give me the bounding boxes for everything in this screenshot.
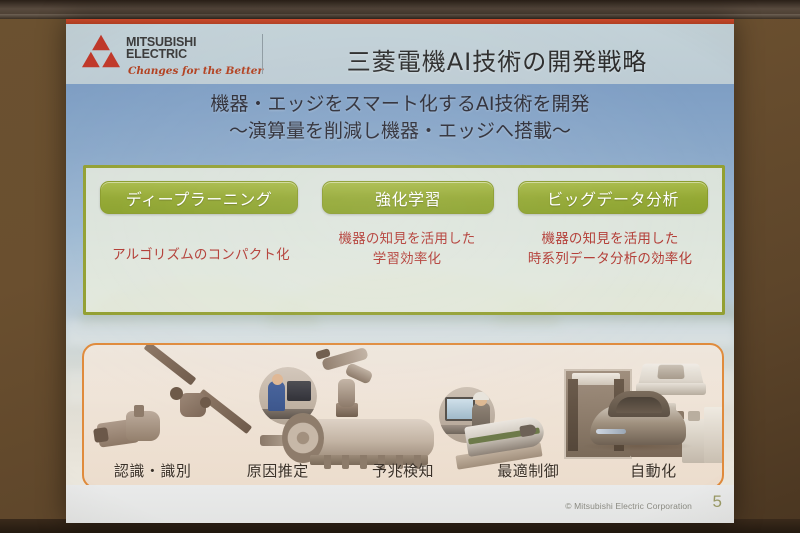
strategy-description-big-data-analysis: 機器の知見を活用した 時系列データ分析の効率化	[506, 230, 714, 269]
security-camera-image	[93, 427, 109, 443]
description-line-1: 機器の知見を活用した	[310, 230, 504, 250]
car-image	[596, 429, 626, 434]
strategy-description-deep-learning: アルゴリズムのコンパクト化	[94, 230, 308, 266]
three-diamonds-icon	[80, 34, 122, 68]
caption-optimal-control: 最適制御	[466, 460, 591, 481]
strategy-pill-deep-learning[interactable]: ディープラーニング	[100, 181, 298, 214]
slide-title: 三菱電機AI技術の開発戦略	[266, 31, 728, 87]
ceiling-air-conditioner-image	[657, 365, 684, 379]
logo-line-2: ELECTRIC	[126, 48, 263, 60]
caption-recognition-identification: 認識・識別	[90, 460, 215, 481]
satellite-image	[198, 389, 252, 434]
car-image	[616, 397, 662, 413]
strategy-description-row: アルゴリズムのコンパクト化 機器の知見を活用した 学習効率化 機器の知見を活用し…	[86, 230, 722, 269]
caption-sign-detection: 予兆検知	[340, 460, 465, 481]
caption-automation: 自動化	[591, 460, 716, 481]
home-appliances-image	[704, 407, 724, 463]
projection-room: MITSUBISHI ELECTRIC Changes for the Bett…	[0, 0, 800, 533]
subtitle-line-1: 機器・エッジをスマート化するAI技術を開発	[66, 91, 734, 118]
satellite-image	[200, 397, 211, 408]
satellite-image	[144, 343, 197, 386]
header-divider	[262, 34, 263, 74]
slide-top-accent-bar	[66, 19, 734, 24]
robot-arm-image	[338, 379, 355, 407]
ai-strategy-panel: ディープラーニング 強化学習 ビッグデータ分析 アルゴリズムのコンパクト化 機器…	[83, 165, 725, 315]
description-line-2: 学習効率化	[310, 250, 504, 270]
strategy-pill-reinforcement-learning[interactable]: 強化学習	[322, 181, 494, 214]
page-number: 5	[713, 492, 722, 512]
satellite-image	[170, 387, 183, 400]
slide-header: MITSUBISHI ELECTRIC Changes for the Bett…	[66, 24, 734, 84]
application-examples-panel: 認識・識別 原因推定 予兆検知 最適制御 自動化	[82, 343, 724, 489]
home-appliances-image	[688, 411, 700, 421]
projected-slide: MITSUBISHI ELECTRIC Changes for the Bett…	[66, 19, 734, 523]
slide-footer: © Mitsubishi Electric Corporation 5	[66, 485, 734, 523]
description-line-1: 機器の知見を活用した	[506, 230, 714, 250]
description-line-1: アルゴリズムのコンパクト化	[94, 246, 308, 266]
copyright-notice: © Mitsubishi Electric Corporation	[565, 501, 692, 511]
elevator-interior-image	[568, 379, 578, 451]
description-line-2: 時系列データ分析の効率化	[506, 250, 714, 270]
elevator-interior-image	[572, 373, 620, 385]
strategy-description-reinforcement-learning: 機器の知見を活用した 学習効率化	[310, 230, 504, 269]
security-camera-image	[134, 405, 144, 417]
caption-cause-estimation: 原因推定	[215, 460, 340, 481]
logo-wordmark: MITSUBISHI ELECTRIC Changes for the Bett…	[126, 36, 263, 76]
subtitle-line-2: ～演算量を削減し機器・エッジへ搭載～	[66, 118, 734, 145]
logo-tagline: Changes for the Better	[128, 66, 263, 76]
strategy-pill-row: ディープラーニング 強化学習 ビッグデータ分析	[86, 181, 722, 214]
application-caption-row: 認識・識別 原因推定 予兆検知 最適制御 自動化	[84, 460, 722, 481]
mitsubishi-electric-logo: MITSUBISHI ELECTRIC Changes for the Bett…	[80, 32, 265, 80]
slide-subtitle: 機器・エッジをスマート化するAI技術を開発 ～演算量を削減し機器・エッジへ搭載～	[66, 91, 734, 145]
strategy-pill-big-data-analysis[interactable]: ビッグデータ分析	[518, 181, 708, 214]
